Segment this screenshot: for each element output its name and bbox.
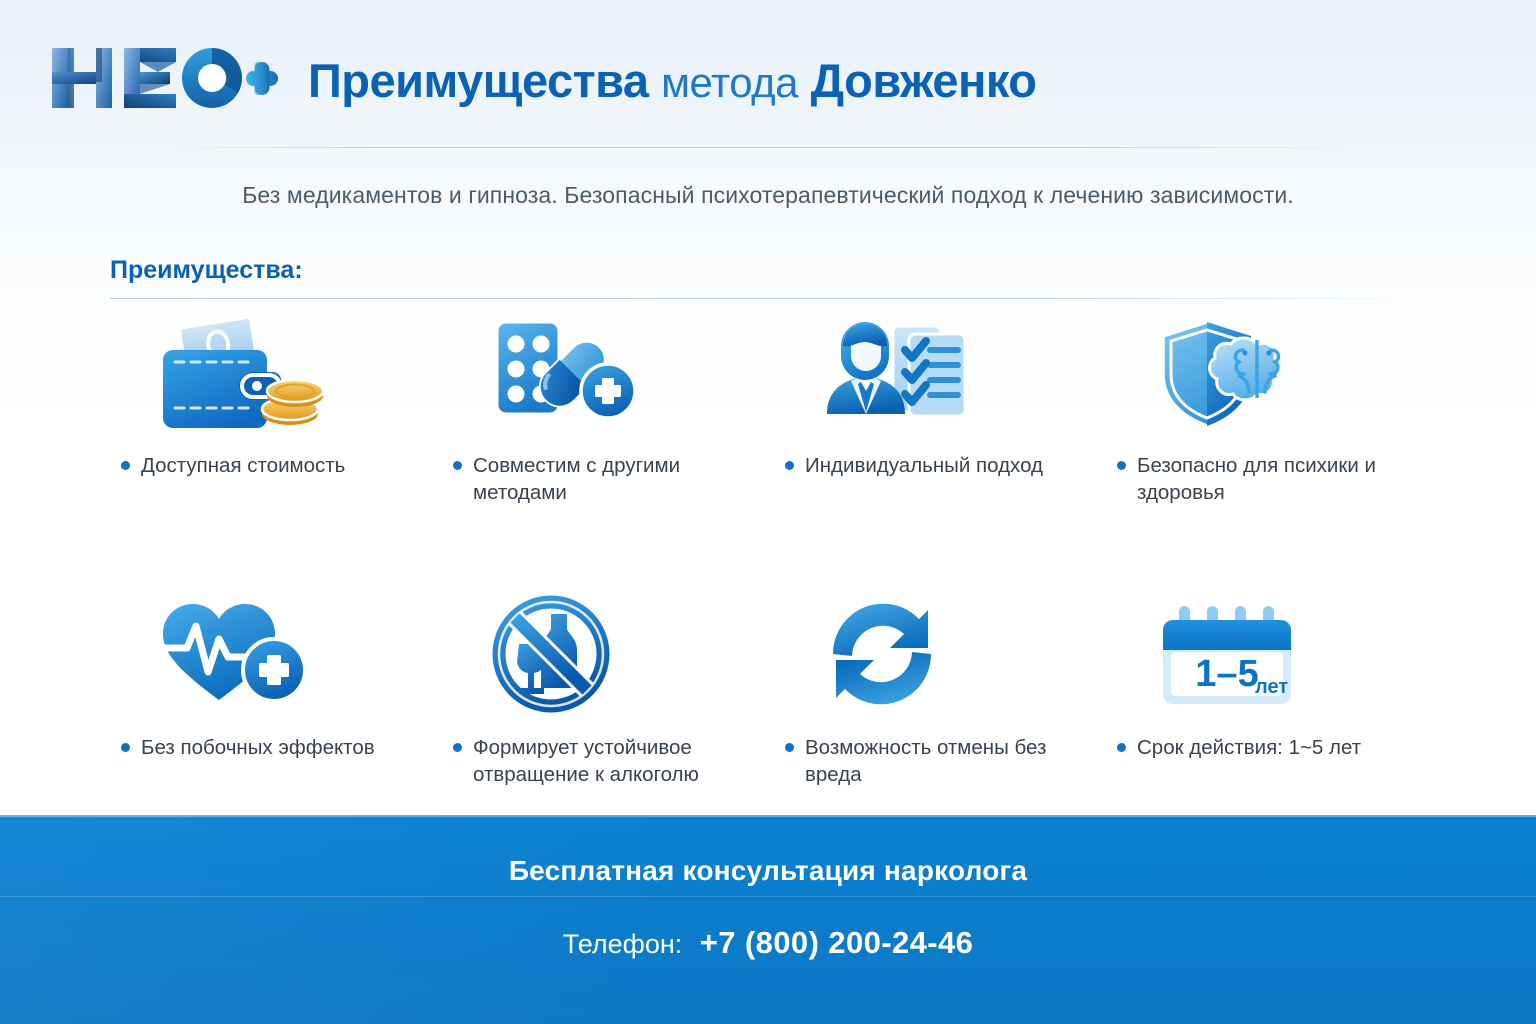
no-alcohol-icon bbox=[489, 596, 629, 714]
footer-title: Бесплатная консультация нарколога bbox=[0, 855, 1536, 887]
benefit-icon-wrapper bbox=[769, 312, 1101, 432]
phone-number[interactable]: +7 (800) 200-24-46 bbox=[700, 925, 973, 960]
benefit-label: Возможность отмены без вреда bbox=[805, 734, 1057, 788]
page-header: Преимущества метода Довженко bbox=[0, 0, 1536, 148]
heart-pulse-plus-icon bbox=[157, 596, 319, 714]
wallet-coins-icon bbox=[157, 314, 332, 432]
benefit-label: Доступная стоимость bbox=[141, 452, 345, 479]
benefit-item: Доступная стоимость bbox=[105, 312, 437, 506]
bullet-icon bbox=[785, 461, 794, 470]
benefits-grid: Доступная стоимость bbox=[105, 312, 1435, 788]
pills-plus-icon bbox=[489, 314, 651, 432]
page-title-part-3: Довженко bbox=[811, 54, 1037, 107]
benefit-item: 1–5 лет Срок действия: 1~5 лет bbox=[1101, 594, 1433, 788]
benefit-icon-wrapper bbox=[437, 594, 769, 714]
neo-plus-logo-icon bbox=[40, 42, 278, 114]
shield-brain-icon bbox=[1153, 314, 1313, 432]
bullet-icon bbox=[1117, 461, 1126, 470]
footer-phone-row: Телефон: +7 (800) 200-24-46 bbox=[0, 925, 1536, 961]
page-title-part-1: Преимущества bbox=[308, 54, 649, 107]
benefit-item: Индивидуальный подход bbox=[769, 312, 1101, 506]
benefit-label-row: Срок действия: 1~5 лет bbox=[1101, 734, 1433, 761]
bullet-icon bbox=[453, 743, 462, 752]
benefit-icon-wrapper bbox=[437, 312, 769, 432]
infographic-page: Преимущества метода Довженко Без медикам… bbox=[0, 0, 1536, 1024]
benefit-label-row: Совместим с другими методами bbox=[437, 452, 769, 506]
cta-footer: Бесплатная консультация нарколога Телефо… bbox=[0, 815, 1536, 1024]
benefit-label: Формирует устойчивое отвращение к алкого… bbox=[473, 734, 725, 788]
benefit-icon-wrapper bbox=[769, 594, 1101, 714]
section-divider bbox=[110, 298, 1425, 299]
benefit-label: Совместим с другими методами bbox=[473, 452, 725, 506]
refresh-arrows-icon bbox=[821, 596, 963, 714]
page-title-part-2: метода bbox=[661, 59, 798, 106]
bullet-icon bbox=[1117, 743, 1126, 752]
benefit-label-row: Доступная стоимость bbox=[105, 452, 437, 479]
bullet-icon bbox=[121, 743, 130, 752]
section-title: Преимущества: bbox=[110, 258, 1430, 283]
page-subtitle: Без медикаментов и гипноза. Безопасный п… bbox=[0, 182, 1536, 209]
benefit-icon-wrapper bbox=[105, 594, 437, 714]
benefit-label: Срок действия: 1~5 лет bbox=[1137, 734, 1361, 761]
calendar-number: 1–5 bbox=[1195, 653, 1258, 695]
phone-label: Телефон: bbox=[563, 929, 683, 959]
benefit-item: Совместим с другими методами bbox=[437, 312, 769, 506]
benefit-icon-wrapper: 1–5 лет bbox=[1101, 594, 1433, 714]
footer-divider bbox=[0, 896, 1536, 897]
benefit-label-row: Индивидуальный подход bbox=[769, 452, 1101, 479]
bullet-icon bbox=[785, 743, 794, 752]
benefit-label-row: Без побочных эффектов bbox=[105, 734, 437, 761]
header-divider bbox=[155, 147, 1380, 148]
benefit-label-row: Формирует устойчивое отвращение к алкого… bbox=[437, 734, 769, 788]
benefit-label-row: Возможность отмены без вреда bbox=[769, 734, 1101, 788]
benefit-label: Без побочных эффектов bbox=[141, 734, 375, 761]
calendar-unit: лет bbox=[1255, 676, 1288, 699]
benefits-section-header: Преимущества: bbox=[110, 258, 1430, 300]
benefit-item: Формирует устойчивое отвращение к алкого… bbox=[437, 594, 769, 788]
header-content: Преимущества метода Довженко bbox=[40, 42, 1036, 114]
bullet-icon bbox=[453, 461, 462, 470]
benefit-label: Безопасно для психики и здоровья bbox=[1137, 452, 1389, 506]
doctor-checklist-icon bbox=[821, 314, 983, 432]
benefit-icon-wrapper bbox=[1101, 312, 1433, 432]
benefit-item: Без побочных эффектов bbox=[105, 594, 437, 788]
benefit-label-row: Безопасно для психики и здоровья bbox=[1101, 452, 1433, 506]
benefit-item: Возможность отмены без вреда bbox=[769, 594, 1101, 788]
bullet-icon bbox=[121, 461, 130, 470]
benefit-label: Индивидуальный подход bbox=[805, 452, 1043, 479]
page-title: Преимущества метода Довженко bbox=[308, 57, 1036, 104]
benefit-item: Безопасно для психики и здоровья bbox=[1101, 312, 1433, 506]
benefit-icon-wrapper bbox=[105, 312, 437, 432]
